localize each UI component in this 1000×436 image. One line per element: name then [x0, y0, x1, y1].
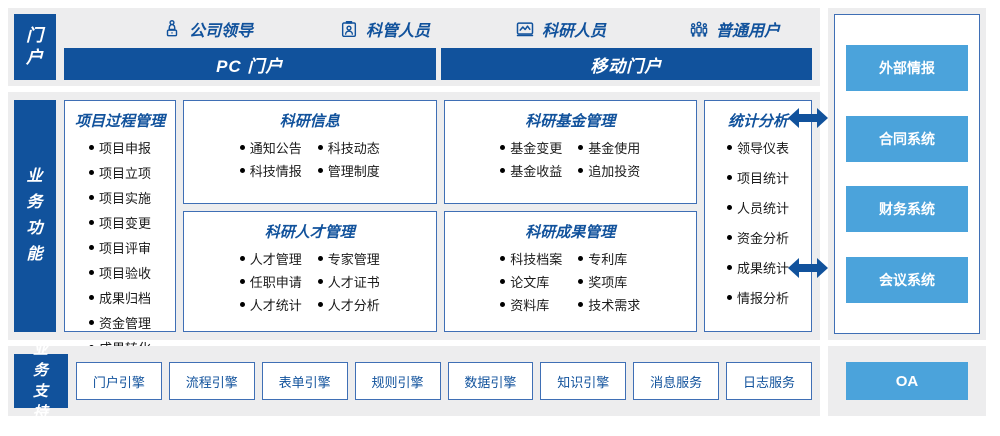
id-badge-icon — [339, 19, 359, 39]
support-engine-portal[interactable]: 门户引擎 — [76, 362, 162, 400]
card-item-list-right: 基金使用 追加投资 — [578, 138, 640, 184]
business-support-body: 门户引擎 流程引擎 表单引擎 规则引擎 数据引擎 知识引擎 消息服务 日志服务 — [76, 354, 812, 408]
research-info-talent-stack: 科研信息 通知公告 科技情报 科技动态 管理制度 — [183, 100, 437, 332]
list-item[interactable]: 专利库 — [578, 249, 640, 268]
business-support-side-label-text: 业 务 支 持 — [33, 339, 49, 423]
list-item-label: 项目变更 — [99, 213, 151, 232]
card-item-columns: 人才管理 任职申请 人才统计 专家管理 人才证书 人才分析 — [240, 249, 380, 318]
business-function-body: 项目过程管理 项目申报 项目立项 项目实施 项目变更 项目评审 项目验收 成果归… — [64, 100, 812, 332]
card-statistical-analysis[interactable]: 统计分析 领导仪表 项目统计 人员统计 资金分析 成果统计 情报分析 — [704, 100, 812, 332]
list-item[interactable]: 科技动态 — [318, 138, 380, 157]
list-item[interactable]: 基金变更 — [500, 138, 562, 157]
main-column: 门 户 公司领导 — [0, 0, 828, 436]
company-leader-icon — [162, 19, 182, 39]
list-item-label: 人才统计 — [250, 295, 302, 314]
fund-achievement-stack: 科研基金管理 基金变更 基金收益 基金使用 追加投资 — [444, 100, 698, 332]
list-item-label: 项目实施 — [99, 188, 151, 207]
list-item[interactable]: 科技情报 — [240, 161, 302, 180]
portal-body: 公司领导 科管人员 — [64, 14, 812, 80]
list-item[interactable]: 项目统计 — [727, 168, 789, 187]
support-engine-rule[interactable]: 规则引擎 — [355, 362, 441, 400]
list-item[interactable]: 项目验收 — [89, 263, 151, 282]
external-system-intelligence[interactable]: 外部情报 — [846, 45, 968, 91]
card-project-process-management[interactable]: 项目过程管理 项目申报 项目立项 项目实施 项目变更 项目评审 项目验收 成果归… — [64, 100, 176, 332]
list-item-label: 资金分析 — [737, 228, 789, 247]
list-item-label: 资金管理 — [99, 313, 151, 332]
list-item-label: 成果统计 — [737, 258, 789, 277]
external-system-finance[interactable]: 财务系统 — [846, 186, 968, 232]
card-item-list-left: 通知公告 科技情报 — [240, 138, 302, 184]
list-item-label: 奖项库 — [588, 272, 627, 291]
portal-section: 门 户 公司领导 — [8, 8, 820, 86]
card-item-columns: 科技档案 论文库 资料库 专利库 奖项库 技术需求 — [500, 249, 640, 318]
list-item[interactable]: 专家管理 — [318, 249, 380, 268]
support-engine-form[interactable]: 表单引擎 — [262, 362, 348, 400]
list-item-label: 科技动态 — [328, 138, 380, 157]
list-item-label: 项目验收 — [99, 263, 151, 282]
card-research-information[interactable]: 科研信息 通知公告 科技情报 科技动态 管理制度 — [183, 100, 437, 204]
card-item-list-left: 人才管理 任职申请 人才统计 — [240, 249, 302, 318]
external-systems-section: 外部情报 合同系统 财务系统 会议系统 — [828, 8, 986, 340]
portal-role-label: 科管人员 — [366, 17, 430, 41]
portal-role-researcher[interactable]: 科研人员 — [515, 17, 606, 41]
list-item[interactable]: 资金分析 — [727, 228, 789, 247]
list-item[interactable]: 基金使用 — [578, 138, 640, 157]
list-item-label: 项目统计 — [737, 168, 789, 187]
list-item-label: 基金收益 — [510, 161, 562, 180]
architecture-diagram: 门 户 公司领导 — [0, 0, 1000, 436]
list-item-label: 追加投资 — [588, 161, 640, 180]
support-engine-knowledge[interactable]: 知识引擎 — [540, 362, 626, 400]
external-system-contract[interactable]: 合同系统 — [846, 116, 968, 162]
card-research-talent-management[interactable]: 科研人才管理 人才管理 任职申请 人才统计 专家管理 人才证书 人才分析 — [183, 211, 437, 332]
card-title: 科研信息 — [280, 110, 340, 131]
list-item[interactable]: 项目立项 — [89, 163, 151, 182]
double-arrow-top-icon — [786, 105, 830, 131]
list-item-label: 科技情报 — [250, 161, 302, 180]
list-item[interactable]: 项目变更 — [89, 213, 151, 232]
card-item-list-left: 基金变更 基金收益 — [500, 138, 562, 184]
business-function-side-label-text: 业 务 功 能 — [26, 164, 43, 268]
card-research-fund-management[interactable]: 科研基金管理 基金变更 基金收益 基金使用 追加投资 — [444, 100, 698, 204]
card-title: 项目过程管理 — [75, 110, 165, 131]
list-item-label: 技术需求 — [588, 295, 640, 314]
list-item[interactable]: 任职申请 — [240, 272, 302, 291]
list-item[interactable]: 科技档案 — [500, 249, 562, 268]
portal-bar-mobile[interactable]: 移动门户 — [441, 48, 813, 80]
list-item-label: 项目申报 — [99, 138, 151, 157]
list-item[interactable]: 管理制度 — [318, 161, 380, 180]
portal-role-normal-user[interactable]: 普通用户 — [689, 17, 780, 41]
card-title: 统计分析 — [728, 110, 788, 131]
card-item-list: 领导仪表 项目统计 人员统计 资金分析 成果统计 情报分析 — [727, 138, 789, 307]
portal-bar-row: PC 门户 移动门户 — [64, 48, 812, 80]
list-item[interactable]: 项目申报 — [89, 138, 151, 157]
list-item-label: 人才管理 — [250, 249, 302, 268]
card-item-list-right: 专家管理 人才证书 人才分析 — [318, 249, 380, 318]
business-support-side-label: 业 务 支 持 — [14, 354, 68, 408]
portal-role-science-manager[interactable]: 科管人员 — [339, 17, 430, 41]
double-arrow-bottom-icon — [786, 255, 830, 281]
chart-monitor-icon — [515, 19, 535, 39]
portal-role-label: 公司领导 — [189, 17, 253, 41]
card-item-list: 项目申报 项目立项 项目实施 项目变更 项目评审 项目验收 成果归档 资金管理 … — [89, 138, 151, 357]
users-group-icon — [689, 19, 709, 39]
card-title: 科研人才管理 — [265, 221, 355, 242]
portal-role-row: 公司领导 科管人员 — [64, 14, 812, 44]
support-service-message[interactable]: 消息服务 — [633, 362, 719, 400]
list-item[interactable]: 成果统计 — [727, 258, 789, 277]
list-item-label: 论文库 — [510, 272, 549, 291]
list-item-label: 人才分析 — [328, 295, 380, 314]
support-engine-data[interactable]: 数据引擎 — [448, 362, 534, 400]
card-item-list-left: 科技档案 论文库 资料库 — [500, 249, 562, 318]
list-item[interactable]: 成果归档 — [89, 288, 151, 307]
list-item[interactable]: 基金收益 — [500, 161, 562, 180]
list-item-label: 任职申请 — [250, 272, 302, 291]
list-item-label: 人员统计 — [737, 198, 789, 217]
card-title: 科研成果管理 — [525, 221, 615, 242]
list-item[interactable]: 追加投资 — [578, 161, 640, 180]
list-item[interactable]: 情报分析 — [727, 288, 789, 307]
list-item-label: 基金变更 — [510, 138, 562, 157]
list-item[interactable]: 人才分析 — [318, 295, 380, 314]
oa-section: OA — [828, 346, 986, 416]
list-item[interactable]: 资料库 — [500, 295, 562, 314]
list-item[interactable]: 通知公告 — [240, 138, 302, 157]
list-item-label: 情报分析 — [737, 288, 789, 307]
external-systems-column: 外部情报 合同系统 财务系统 会议系统 OA — [828, 0, 1000, 436]
portal-role-company-leader[interactable]: 公司领导 — [162, 17, 253, 41]
business-function-section: 业 务 功 能 项目过程管理 项目申报 项目立项 项目实施 项目变更 项目评审 … — [8, 92, 820, 340]
list-item-label: 管理制度 — [328, 161, 380, 180]
portal-bar-pc[interactable]: PC 门户 — [64, 48, 436, 80]
list-item-label: 项目立项 — [99, 163, 151, 182]
card-item-list-right: 科技动态 管理制度 — [318, 138, 380, 184]
external-system-meeting[interactable]: 会议系统 — [846, 257, 968, 303]
list-item-label: 资料库 — [510, 295, 549, 314]
list-item[interactable]: 项目评审 — [89, 238, 151, 257]
business-function-side-label: 业 务 功 能 — [14, 100, 56, 332]
list-item[interactable]: 人员统计 — [727, 198, 789, 217]
card-research-achievement-management[interactable]: 科研成果管理 科技档案 论文库 资料库 专利库 奖项库 技术需求 — [444, 211, 698, 332]
list-item-label: 科技档案 — [510, 249, 562, 268]
card-title: 科研基金管理 — [525, 110, 615, 131]
list-item-label: 通知公告 — [250, 138, 302, 157]
list-item[interactable]: 人才统计 — [240, 295, 302, 314]
portal-side-label: 门 户 — [14, 14, 56, 80]
list-item[interactable]: 奖项库 — [578, 272, 640, 291]
list-item[interactable]: 项目实施 — [89, 188, 151, 207]
card-item-list-right: 专利库 奖项库 技术需求 — [578, 249, 640, 318]
list-item[interactable]: 技术需求 — [578, 295, 640, 314]
support-engine-workflow[interactable]: 流程引擎 — [169, 362, 255, 400]
list-item[interactable]: 论文库 — [500, 272, 562, 291]
business-support-section: 业 务 支 持 门户引擎 流程引擎 表单引擎 规则引擎 数据引擎 知识引擎 消息… — [8, 346, 820, 416]
support-service-log[interactable]: 日志服务 — [726, 362, 812, 400]
list-item-label: 基金使用 — [588, 138, 640, 157]
external-systems-frame: 外部情报 合同系统 财务系统 会议系统 — [834, 14, 980, 334]
portal-role-label: 科研人员 — [542, 17, 606, 41]
oa-system-chip[interactable]: OA — [846, 362, 968, 400]
list-item-label: 人才证书 — [328, 272, 380, 291]
list-item[interactable]: 人才证书 — [318, 272, 380, 291]
portal-side-label-text: 门 户 — [26, 25, 44, 69]
list-item-label: 专利库 — [588, 249, 627, 268]
list-item[interactable]: 资金管理 — [89, 313, 151, 332]
list-item[interactable]: 人才管理 — [240, 249, 302, 268]
list-item-label: 专家管理 — [328, 249, 380, 268]
list-item[interactable]: 领导仪表 — [727, 138, 789, 157]
list-item-label: 项目评审 — [99, 238, 151, 257]
list-item-label: 领导仪表 — [737, 138, 789, 157]
portal-role-label: 普通用户 — [716, 17, 780, 41]
card-item-columns: 通知公告 科技情报 科技动态 管理制度 — [240, 138, 380, 184]
card-item-columns: 基金变更 基金收益 基金使用 追加投资 — [500, 138, 640, 184]
list-item-label: 成果归档 — [99, 288, 151, 307]
